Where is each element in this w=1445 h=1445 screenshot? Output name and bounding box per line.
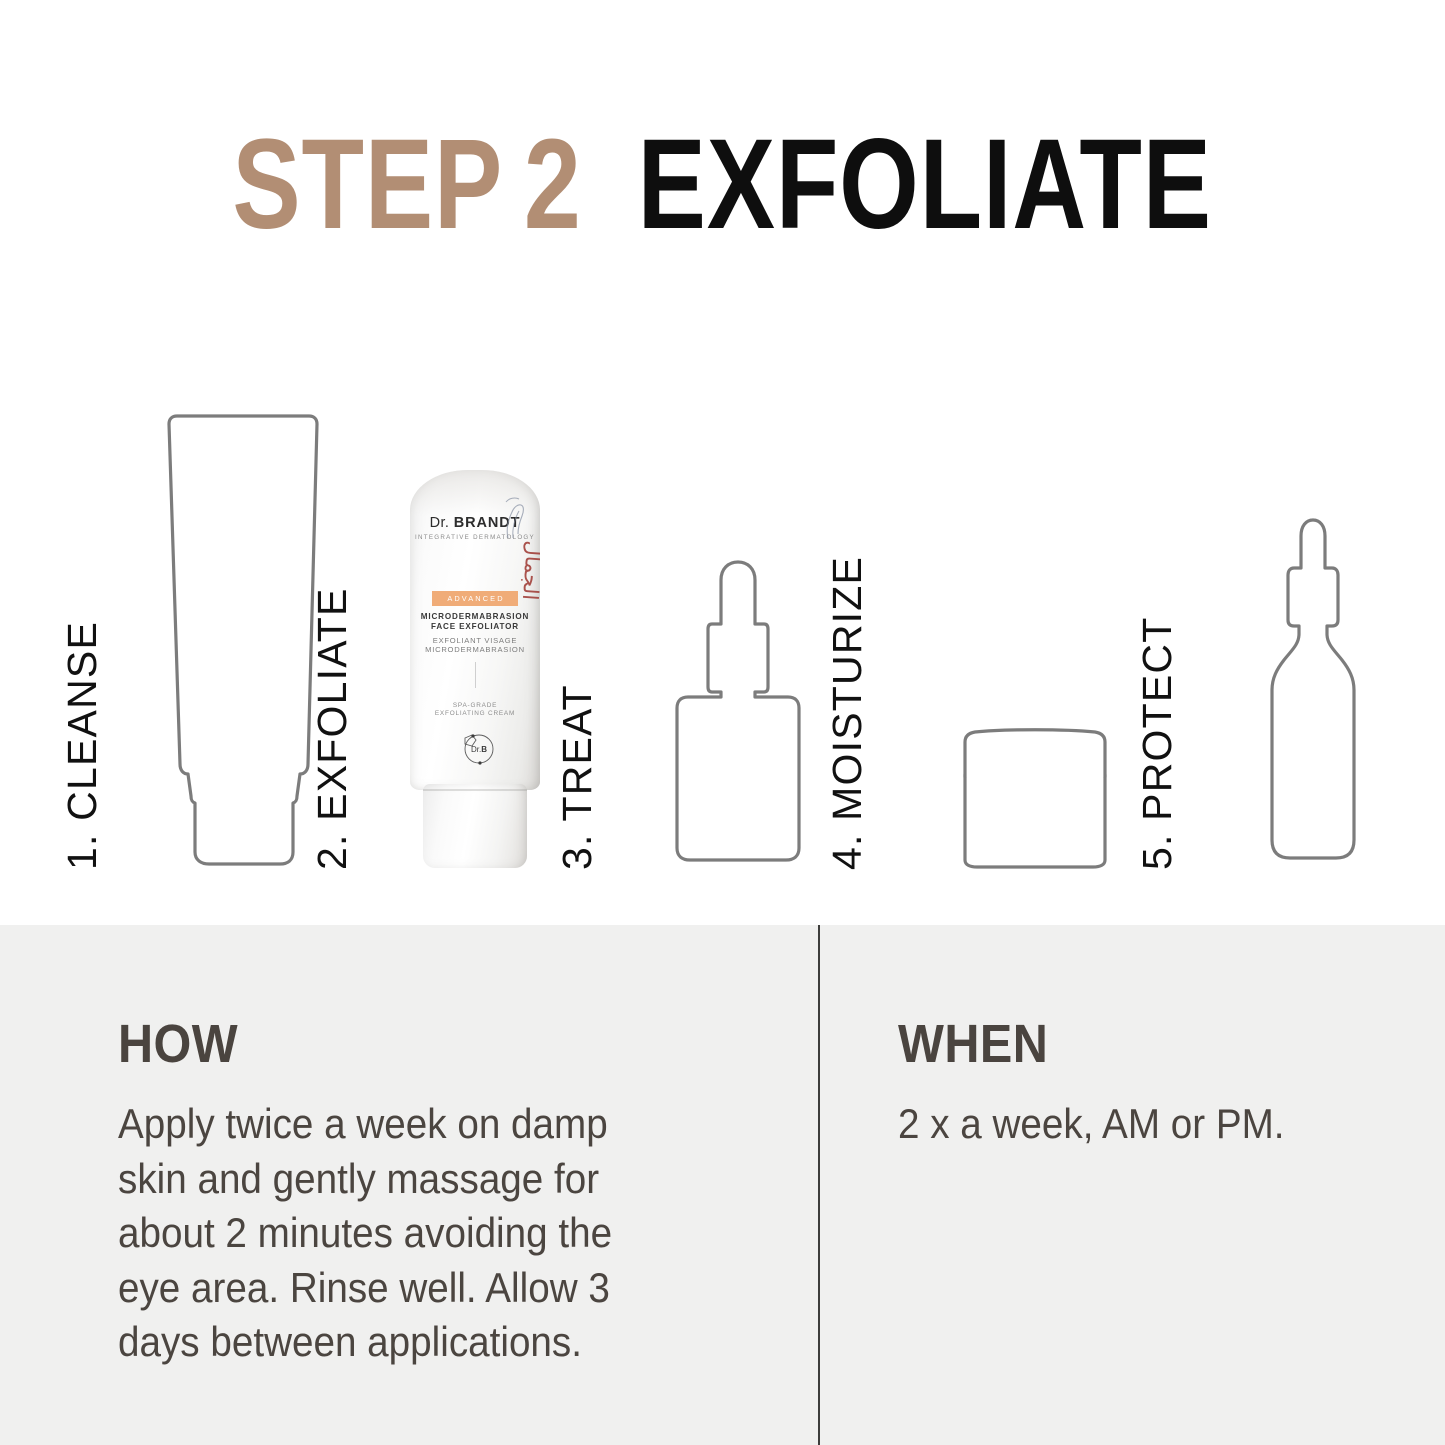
serum-bottle-outline-icon (1248, 510, 1378, 870)
when-text: 2 x a week, AM or PM. (898, 1075, 1340, 1152)
title-step-action: EXFOLIATE (638, 111, 1212, 258)
page-title: STEP 2 EXFOLIATE (0, 104, 1445, 264)
routine-label-protect: 5. PROTECT (1137, 617, 1178, 870)
tube-divider-rule (475, 662, 476, 688)
instructions-panel: HOW Apply twice a week on damp skin and … (0, 925, 1445, 1445)
routine-label-moisturize: 4. MOISTURIZE (827, 556, 868, 870)
tube-outline-svg (157, 404, 329, 870)
routine-step-treat[interactable]: 3. TREAT (590, 370, 840, 870)
how-text: Apply twice a week on damp skin and gent… (118, 1075, 670, 1370)
title-line: STEP 2 EXFOLIATE (233, 111, 1212, 258)
product-claim-line1: SPA-GRADE (453, 702, 497, 709)
arabic-script-decoration: الجمال (495, 539, 540, 771)
panel-divider (818, 925, 820, 1445)
when-heading: WHEN (898, 925, 1330, 1075)
routine-step-exfoliate[interactable]: 2. EXFOLIATE Dr. BRANDT INTEGRATIVE DERM… (345, 370, 575, 870)
routine-step-cleanse[interactable]: 1. CLEANSE (95, 370, 345, 870)
dropper-bottle-outline-icon (658, 552, 818, 870)
tube-cap-seam (423, 789, 527, 791)
jar-outline-svg (935, 720, 1135, 870)
title-step-word: STEP (233, 111, 504, 258)
tube-body: Dr. BRANDT INTEGRATIVE DERMATOLOGY ADVAN… (410, 470, 540, 790)
how-heading: HOW (118, 925, 658, 1075)
cream-jar-outline-icon (935, 720, 1135, 870)
dr-b-logo-icon: Dr.B (449, 728, 501, 768)
infographic-page: STEP 2 EXFOLIATE 1. CLEANSE 2. EXFOLIATE (0, 0, 1445, 1445)
how-column: HOW Apply twice a week on damp skin and … (118, 925, 718, 1370)
routine-strip: 1. CLEANSE 2. EXFOLIATE Dr. BRANDT INTEG… (0, 330, 1445, 870)
dropper-outline-svg (658, 552, 818, 870)
routine-label-cleanse: 1. CLEANSE (62, 621, 103, 870)
routine-label-exfoliate: 2. EXFOLIATE (312, 587, 353, 870)
serum-outline-svg (1248, 510, 1378, 870)
when-column: WHEN 2 x a week, AM or PM. (898, 925, 1378, 1152)
title-step-number: 2 (524, 111, 582, 258)
tube-cap (423, 784, 527, 868)
routine-step-protect[interactable]: 5. PROTECT (1170, 370, 1420, 870)
cleanser-tube-outline-icon (157, 404, 329, 870)
advanced-badge: ADVANCED (432, 591, 517, 606)
exfoliator-product-photo: Dr. BRANDT INTEGRATIVE DERMATOLOGY ADVAN… (400, 470, 550, 870)
routine-step-moisturize[interactable]: 4. MOISTURIZE (860, 370, 1150, 870)
brand-prefix: Dr. (430, 515, 450, 531)
tube-illustration-icon (502, 494, 532, 552)
routine-label-treat: 3. TREAT (557, 684, 598, 870)
svg-text:Dr.B: Dr.B (471, 745, 487, 754)
